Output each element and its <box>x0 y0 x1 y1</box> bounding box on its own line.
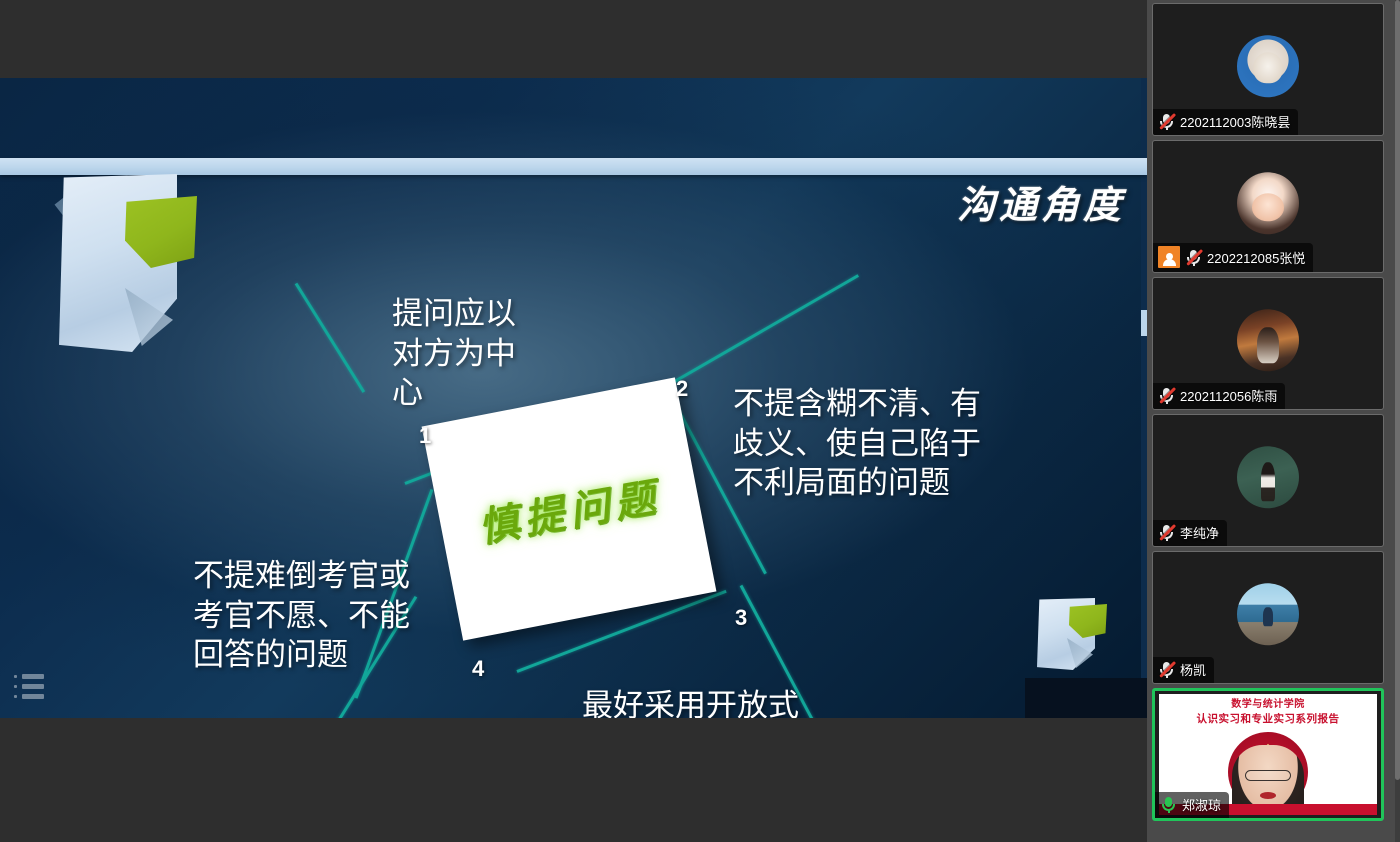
video-banner-line2: 认识实习和专业实习系列报告 <box>1159 712 1377 726</box>
participant-rail-scrollbar[interactable] <box>1395 0 1400 842</box>
center-card-text: 慎提问题 <box>473 464 664 553</box>
avatar <box>1237 172 1299 234</box>
mic-muted-icon[interactable] <box>1185 249 1202 266</box>
mic-muted-icon[interactable] <box>1158 113 1175 130</box>
quadrant-text-3: 最好采用开放式提问 <box>582 686 812 718</box>
center-card: 慎提问题 <box>422 377 717 640</box>
quadrant-number-2: 2 <box>676 376 688 402</box>
participant-name: 2202112003陈晓昙 <box>1180 112 1290 131</box>
participant-tile[interactable]: 2202112003陈晓昙 <box>1152 3 1384 136</box>
avatar <box>1237 583 1299 645</box>
video-banner-line1: 数学与统计学院 <box>1159 698 1377 712</box>
shared-screen-stage[interactable]: 沟通角度 <box>0 0 1147 842</box>
avatar <box>1237 35 1299 97</box>
quadrant-text-4: 不提难倒考官或考官不愿、不能回答的问题 <box>193 556 437 675</box>
participant-namebar: 2202212085张悦 <box>1153 243 1313 272</box>
participant-name: 郑淑琼 <box>1182 795 1221 814</box>
scrollbar-thumb[interactable] <box>1395 0 1400 780</box>
participant-namebar: 李纯净 <box>1153 520 1227 546</box>
participant-namebar: 郑淑琼 <box>1155 792 1229 818</box>
participant-name: 2202112056陈雨 <box>1180 386 1277 405</box>
meeting-window: 沟通角度 <box>0 0 1400 842</box>
slide-corner-shadow <box>1025 678 1147 718</box>
paper-sticky-note-icon <box>47 168 187 353</box>
glasses-graphic <box>1245 770 1291 781</box>
participant-tile[interactable]: 2202112056陈雨 <box>1152 277 1384 410</box>
paper-sticky-note-icon-small <box>1033 594 1105 670</box>
participant-name: 2202212085张悦 <box>1207 248 1305 267</box>
participant-namebar: 杨凯 <box>1153 657 1214 683</box>
presentation-slide[interactable]: 沟通角度 <box>0 78 1147 718</box>
participant-tile[interactable]: 李纯净 <box>1152 414 1384 547</box>
participant-name: 杨凯 <box>1180 660 1206 679</box>
participant-tile-speaking[interactable]: 数学与统计学院 认识实习和专业实习系列报告 郑淑琼 <box>1152 688 1384 821</box>
participant-name: 李纯净 <box>1180 523 1219 542</box>
avatar <box>1237 309 1299 371</box>
list-menu-icon[interactable] <box>14 674 44 704</box>
participant-namebar: 2202112003陈晓昙 <box>1153 109 1298 135</box>
participant-tile[interactable]: 2202212085张悦 <box>1152 140 1384 273</box>
quadrant-number-3: 3 <box>735 605 747 631</box>
mic-active-icon[interactable] <box>1160 796 1177 813</box>
mic-muted-icon[interactable] <box>1158 661 1175 678</box>
quadrant-text-2: 不提含糊不清、有歧义、使自己陷于不利局面的问题 <box>733 384 1009 503</box>
participant-rail[interactable]: 2202112003陈晓昙 2202212085张悦 <box>1147 0 1400 842</box>
quadrant-number-1: 1 <box>419 423 431 449</box>
participant-namebar: 2202112056陈雨 <box>1153 383 1285 409</box>
quadrant-text-1: 提问应以对方为中心 <box>392 294 538 413</box>
quadrant-number-4: 4 <box>472 656 484 682</box>
mic-muted-icon[interactable] <box>1158 524 1175 541</box>
lips-graphic <box>1260 792 1276 799</box>
mic-muted-icon[interactable] <box>1158 387 1175 404</box>
host-icon <box>1158 246 1180 268</box>
participant-tile[interactable]: 杨凯 <box>1152 551 1384 684</box>
avatar <box>1237 446 1299 508</box>
slide-title: 沟通角度 <box>957 174 1125 229</box>
